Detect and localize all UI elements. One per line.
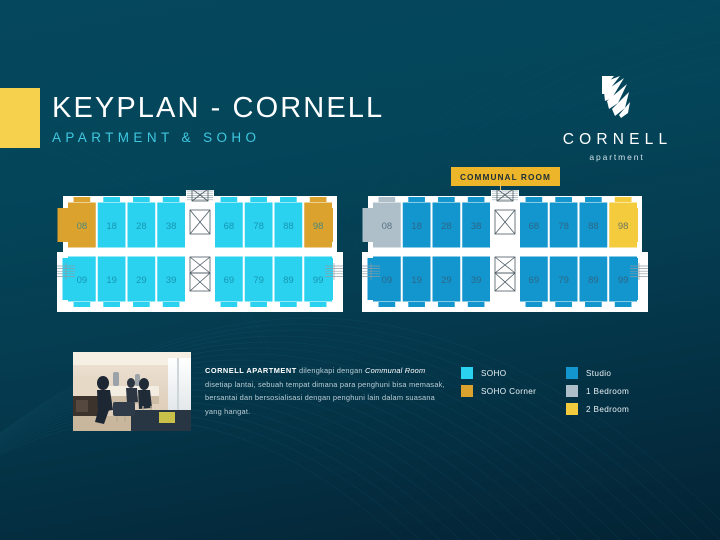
unit-label: 98 <box>313 221 324 232</box>
unit-label: 09 <box>382 275 393 286</box>
legend-item[interactable]: 1 Bedroom <box>566 385 629 397</box>
unit-label: 68 <box>529 221 540 232</box>
unit-cell[interactable]: 68 <box>520 197 549 248</box>
unit-cell[interactable]: 99 <box>609 256 638 307</box>
title-accent-square <box>0 88 40 148</box>
unit-cell[interactable]: 88 <box>274 197 303 248</box>
unit-label: 69 <box>224 275 235 286</box>
page-subtitle: APARTMENT & SOHO <box>52 130 384 145</box>
unit-label: 08 <box>382 221 393 232</box>
legend-label: 1 Bedroom <box>586 387 629 396</box>
unit-cell[interactable]: 28 <box>127 197 156 248</box>
unit-cell[interactable]: 09 <box>368 256 402 307</box>
unit-label: 89 <box>283 275 294 286</box>
communal-room-callout: COMMUNAL ROOM <box>451 167 560 186</box>
unit-label: 99 <box>313 275 324 286</box>
legend-soho-group: SOHOSOHO Corner <box>461 367 536 397</box>
unit-cell[interactable]: 78 <box>549 197 578 248</box>
unit-cell[interactable]: 89 <box>579 256 608 307</box>
unit-label: 78 <box>558 221 569 232</box>
unit-cell[interactable]: 79 <box>549 256 578 307</box>
unit-cell[interactable]: 18 <box>402 197 431 248</box>
legend-item[interactable]: 2 Bedroom <box>566 403 629 415</box>
unit-cell[interactable]: 38 <box>157 197 186 248</box>
unit-label: 69 <box>529 275 540 286</box>
unit-label: 88 <box>588 221 599 232</box>
unit-label: 09 <box>77 275 88 286</box>
unit-cell[interactable]: 69 <box>520 256 549 307</box>
legend-label: SOHO <box>481 369 507 378</box>
unit-label: 19 <box>106 275 117 286</box>
unit-label: 89 <box>588 275 599 286</box>
legend-apartment-group: Studio1 Bedroom2 Bedroom <box>566 367 629 415</box>
description-part1: dilengkapi dengan <box>297 366 365 375</box>
cornell-stripes-mark-icon <box>548 72 683 122</box>
unit-label: 38 <box>471 221 482 232</box>
soho-swatch-0 <box>461 367 473 379</box>
unit-cell[interactable]: 89 <box>274 256 303 307</box>
unit-cell[interactable]: 19 <box>97 256 126 307</box>
communal-room-photo <box>73 352 191 431</box>
unit-cell[interactable]: 98 <box>609 197 638 248</box>
page-title-block: KEYPLAN - CORNELL APARTMENT & SOHO <box>52 93 384 145</box>
unit-cell[interactable]: 39 <box>157 256 186 307</box>
unit-cell[interactable]: 09 <box>63 256 97 307</box>
legend-item[interactable]: Studio <box>566 367 629 379</box>
unit-cell[interactable]: 19 <box>402 256 431 307</box>
legend-label: SOHO Corner <box>481 387 536 396</box>
legend-item[interactable]: SOHO <box>461 367 536 379</box>
unit-cell[interactable]: 29 <box>432 256 461 307</box>
unit-label: 28 <box>136 221 147 232</box>
unit-label: 98 <box>618 221 629 232</box>
logo-svg <box>594 72 638 122</box>
apartment-swatch-1 <box>566 385 578 397</box>
unit-cell[interactable]: 99 <box>304 256 333 307</box>
legend-label: Studio <box>586 369 611 378</box>
unit-label: 78 <box>253 221 264 232</box>
legend-item[interactable]: SOHO Corner <box>461 385 536 397</box>
unit-cell[interactable]: 69 <box>215 256 244 307</box>
unit-cell[interactable]: 18 <box>97 197 126 248</box>
legend-label: 2 Bedroom <box>586 405 629 414</box>
logo-wordmark: CORNELL <box>548 131 683 149</box>
logo-tagline: apartment <box>548 152 683 162</box>
unit-label: 08 <box>77 221 88 232</box>
unit-label: 99 <box>618 275 629 286</box>
unit-label: 79 <box>253 275 264 286</box>
unit-cell[interactable]: 28 <box>432 197 461 248</box>
soho-floor-plan[interactable]: 08182838687888980919293969798999 <box>55 190 345 325</box>
unit-cell[interactable]: 78 <box>244 197 273 248</box>
unit-cell[interactable]: 29 <box>127 256 156 307</box>
cornell-logo: CORNELL apartment <box>548 72 683 162</box>
soho-plan-svg: 08182838687888980919293969798999 <box>55 190 345 325</box>
unit-cell[interactable]: 68 <box>215 197 244 248</box>
description-part2: disetiap lantai, sebuah tempat dimana pa… <box>205 380 445 416</box>
keyplan-slide: KEYPLAN - CORNELL APARTMENT & SOHO CORNE… <box>0 0 720 540</box>
apartment-swatch-2 <box>566 403 578 415</box>
page-title: KEYPLAN - CORNELL <box>52 93 384 123</box>
apartment-swatch-0 <box>566 367 578 379</box>
unit-label: 39 <box>166 275 177 286</box>
unit-label: 18 <box>411 221 422 232</box>
unit-cell[interactable]: 88 <box>579 197 608 248</box>
unit-label: 18 <box>106 221 117 232</box>
unit-label: 19 <box>411 275 422 286</box>
photo-illustration <box>73 352 191 431</box>
unit-label: 88 <box>283 221 294 232</box>
description-brand: CORNELL APARTMENT <box>205 366 297 375</box>
unit-label: 29 <box>441 275 452 286</box>
unit-label: 68 <box>224 221 235 232</box>
apartment-plan-svg: 08182838687888980919293969798999 <box>360 190 650 325</box>
description-emphasis: Communal Room <box>365 366 425 375</box>
unit-label: 79 <box>558 275 569 286</box>
unit-cell[interactable]: 38 <box>462 197 491 248</box>
unit-label: 29 <box>136 275 147 286</box>
soho-swatch-1 <box>461 385 473 397</box>
unit-cell[interactable]: 79 <box>244 256 273 307</box>
unit-label: 38 <box>166 221 177 232</box>
unit-label: 28 <box>441 221 452 232</box>
apartment-floor-plan[interactable]: 08182838687888980919293969798999 <box>360 190 650 325</box>
unit-label: 39 <box>471 275 482 286</box>
communal-room-description: CORNELL APARTMENT dilengkapi dengan Comm… <box>205 364 447 419</box>
unit-cell[interactable]: 39 <box>462 256 491 307</box>
unit-cell[interactable]: 98 <box>304 197 333 248</box>
